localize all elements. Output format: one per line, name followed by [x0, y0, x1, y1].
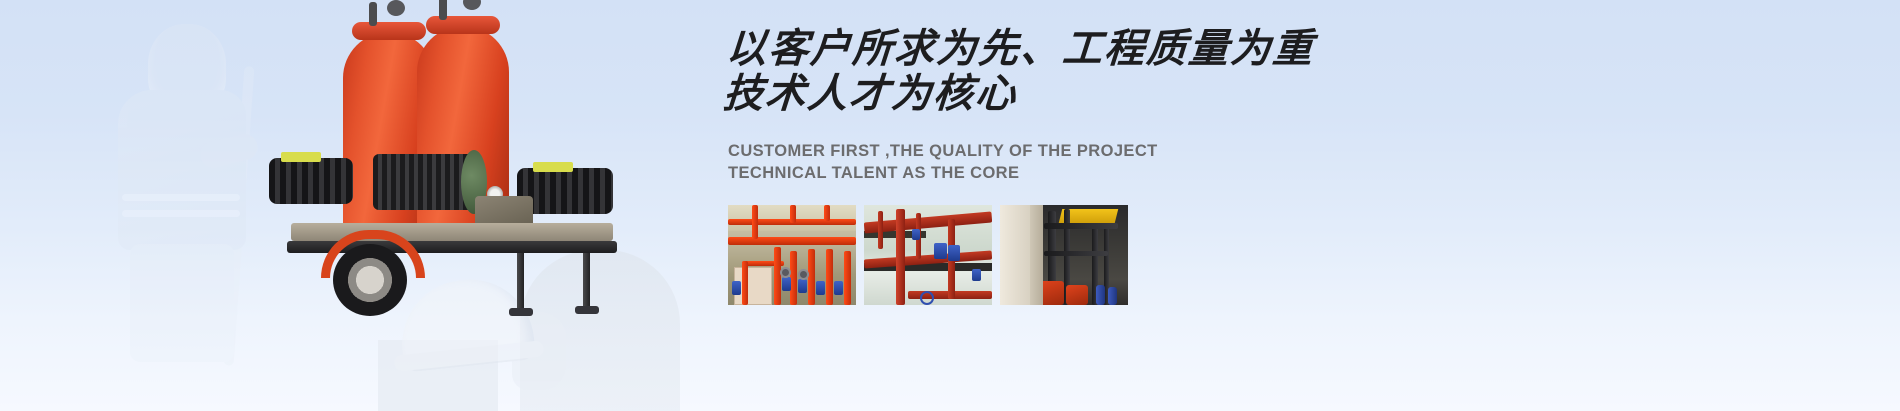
- blue-valve: [948, 245, 960, 261]
- red-pump: [1066, 285, 1088, 305]
- blue-valve: [912, 229, 920, 240]
- subheadline-line-1: CUSTOMER FIRST ,THE QUALITY OF THE PROJE…: [728, 140, 1428, 162]
- trailer-support-leg: [517, 246, 524, 316]
- trailer-leg-foot: [575, 306, 599, 314]
- column-shadow: [1030, 205, 1043, 305]
- hose-marker-tab: [281, 152, 321, 162]
- blue-valve: [732, 281, 741, 295]
- blue-valve: [798, 279, 807, 293]
- tank-cap: [426, 16, 500, 34]
- blue-valve: [934, 243, 947, 259]
- headline: 以客户所求为先、工程质量为重 技术人才为核心: [722, 26, 1428, 116]
- blue-cylinder: [1108, 287, 1117, 305]
- riser-pipe: [808, 249, 815, 305]
- riser-pipe: [790, 251, 797, 305]
- blue-valve: [816, 281, 825, 295]
- blue-valve: [782, 277, 791, 291]
- firefighter-coat-shape: [118, 90, 246, 250]
- blue-cylinder: [1096, 285, 1105, 305]
- valve-handwheel: [780, 267, 791, 278]
- riser-pipe: [826, 249, 833, 305]
- white-column: [1000, 205, 1030, 305]
- vertical-pipe: [790, 205, 796, 223]
- watermark-shadow-block: [378, 340, 498, 411]
- reflective-stripe: [122, 210, 240, 217]
- thumbnail-pump-room[interactable]: [1000, 205, 1128, 305]
- headline-line-2: 技术人才为核心: [722, 71, 1425, 116]
- vertical-pipe: [896, 209, 905, 305]
- drop-pipe: [878, 211, 883, 249]
- mobile-fire-fighting-foam-trailer: [265, 8, 617, 308]
- blue-valve: [834, 281, 843, 295]
- trailer-support-leg: [583, 244, 590, 314]
- headline-line-1: 以客户所求为先、工程质量为重: [725, 26, 1428, 71]
- blue-valve: [972, 269, 981, 281]
- tank-cap: [352, 22, 426, 40]
- trailer-leg-foot: [509, 308, 533, 316]
- helmet-brim-shape: [394, 340, 545, 372]
- tank-valve: [369, 2, 377, 26]
- subheadline: CUSTOMER FIRST ,THE QUALITY OF THE PROJE…: [728, 140, 1428, 184]
- subheadline-line-2: TECHNICAL TALENT AS THE CORE: [728, 162, 1428, 184]
- vertical-pipe: [752, 205, 758, 239]
- firefighter-silhouette-watermark: [96, 18, 266, 363]
- horizontal-pipe: [728, 237, 856, 245]
- thumbnail-fire-riser-pipes[interactable]: [728, 205, 856, 305]
- firefighter-hood-shape: [148, 24, 226, 112]
- hero-banner: 以客户所求为先、工程质量为重 技术人才为核心 CUSTOMER FIRST ,T…: [0, 0, 1900, 411]
- valve-handwheel: [798, 269, 809, 280]
- hose-bundle-left: [269, 158, 353, 204]
- trailer-deck: [291, 223, 613, 241]
- banner-copy: 以客户所求为先、工程质量为重 技术人才为核心 CUSTOMER FIRST ,T…: [728, 26, 1428, 184]
- tank-knob: [387, 0, 405, 16]
- fire-hook-pole-icon: [224, 66, 255, 366]
- dark-pipe: [1044, 223, 1118, 229]
- firefighter-face-shape: [512, 312, 566, 390]
- thumbnail-strip: [728, 205, 1128, 305]
- dark-pipe: [1044, 251, 1108, 256]
- riser-pipe: [742, 261, 748, 305]
- firefighter-arm-shape: [198, 131, 261, 170]
- vertical-pipe: [824, 205, 830, 221]
- riser-pipe: [844, 251, 851, 305]
- riser-pipe: [774, 247, 781, 305]
- firefighter-legs-shape: [130, 244, 234, 362]
- valve-handwheel: [920, 291, 934, 305]
- hose-marker-tab: [533, 162, 573, 172]
- thumbnail-overhead-red-piping[interactable]: [864, 205, 992, 305]
- tank-knob: [463, 0, 481, 10]
- tank-valve: [439, 0, 447, 20]
- reflective-stripe: [122, 194, 240, 201]
